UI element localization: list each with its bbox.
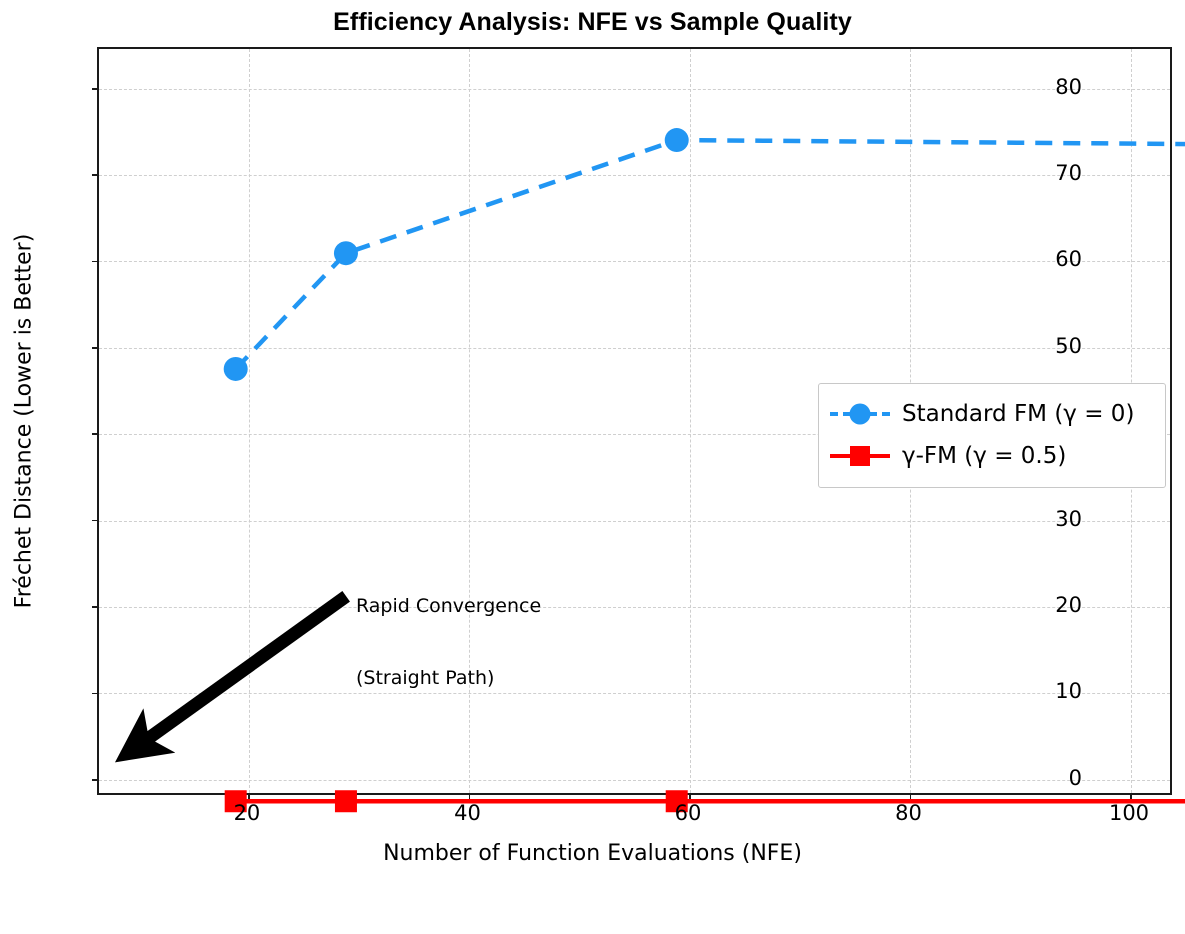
y-tick-label: 50 bbox=[1055, 334, 1082, 358]
y-tick-label: 20 bbox=[1055, 593, 1082, 617]
y-tick-label: 80 bbox=[1055, 75, 1082, 99]
y-tick-mark bbox=[92, 88, 99, 90]
y-tick-mark bbox=[92, 261, 99, 263]
chart-root: Efficiency Analysis: NFE vs Sample Quali… bbox=[0, 0, 1185, 885]
chart-legend[interactable]: Standard FM (γ = 0) γ-FM (γ = 0.5) bbox=[818, 383, 1166, 488]
y-axis-label: Fréchet Distance (Lower is Better) bbox=[12, 234, 37, 609]
annotation-line-1: Rapid Convergence bbox=[356, 594, 541, 618]
x-tick-label: 60 bbox=[675, 801, 702, 825]
y-tick-mark bbox=[92, 174, 99, 176]
y-tick-mark bbox=[92, 347, 99, 349]
y-tick-mark bbox=[92, 693, 99, 695]
legend-square-marker-icon bbox=[850, 446, 870, 466]
y-tick-label: 0 bbox=[1069, 766, 1082, 790]
legend-item-standard-fm[interactable]: Standard FM (γ = 0) bbox=[830, 393, 1154, 435]
rapid-convergence-annotation: Rapid Convergence (Straight Path) bbox=[356, 546, 541, 738]
chart-title: Efficiency Analysis: NFE vs Sample Quali… bbox=[0, 8, 1185, 37]
y-tick-mark bbox=[92, 779, 99, 781]
legend-label-gamma-fm: γ-FM (γ = 0.5) bbox=[902, 443, 1066, 469]
x-axis-label: Number of Function Evaluations (NFE) bbox=[0, 841, 1185, 866]
y-tick-mark bbox=[92, 520, 99, 522]
legend-swatch-gamma-fm bbox=[830, 444, 890, 468]
y-tick-label: 70 bbox=[1055, 161, 1082, 185]
x-tick-label: 100 bbox=[1109, 801, 1149, 825]
y-tick-label: 60 bbox=[1055, 247, 1082, 271]
legend-circle-marker-icon bbox=[850, 404, 871, 425]
annotation-line-2: (Straight Path) bbox=[356, 666, 541, 690]
y-tick-label: 10 bbox=[1055, 679, 1082, 703]
legend-swatch-standard-fm bbox=[830, 402, 890, 426]
y-tick-mark bbox=[92, 433, 99, 435]
legend-item-gamma-fm[interactable]: γ-FM (γ = 0.5) bbox=[830, 435, 1154, 477]
y-tick-mark bbox=[92, 606, 99, 608]
data-point-square bbox=[335, 790, 357, 812]
x-tick-label: 40 bbox=[454, 801, 481, 825]
legend-label-standard-fm: Standard FM (γ = 0) bbox=[902, 401, 1134, 427]
x-tick-label: 20 bbox=[234, 801, 261, 825]
x-tick-label: 80 bbox=[895, 801, 922, 825]
y-tick-label: 30 bbox=[1055, 507, 1082, 531]
